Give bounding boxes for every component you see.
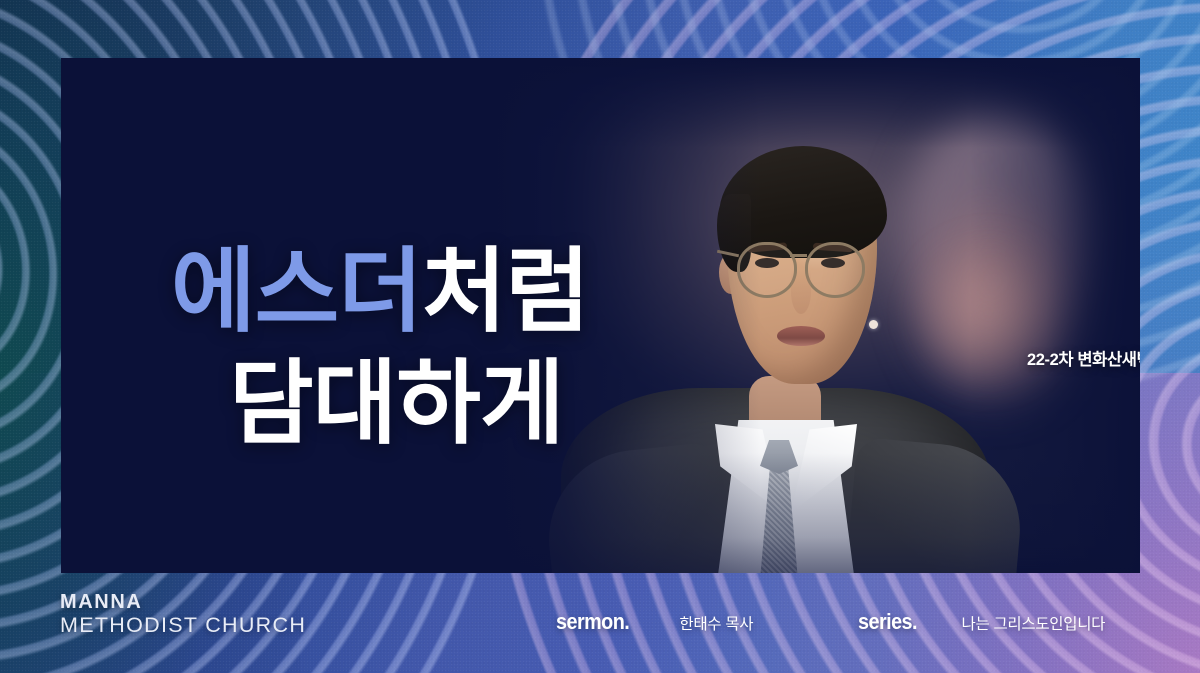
lapel-microphone [869, 320, 878, 329]
series-title: 나는 그리스도인입니다 [962, 612, 1106, 634]
sermon-label: sermon. [556, 609, 629, 635]
mouth [777, 326, 825, 346]
sermon-speaker-name: 한태수 목사 [679, 612, 753, 634]
title-line-1: 에스더처럼 [171, 236, 589, 348]
nose [791, 270, 811, 314]
content-panel: 에스더처럼 담대하게 22-2차 변화산새벽기도회 [61, 58, 1140, 573]
logo-line-2: METHODIST CHURCH [60, 613, 306, 637]
eyeglasses-bridge [790, 254, 807, 257]
church-logo: MANNA METHODIST CHURCH [60, 591, 306, 637]
title-accent-text: 에스더 [171, 241, 422, 343]
eyeglasses-lens-left [737, 242, 797, 298]
sermon-title-card: 에스더처럼 담대하게 22-2차 변화산새벽기도회 MANNA METHODIS… [0, 0, 1200, 673]
eyeglasses-lens-right [805, 242, 865, 298]
title-plain-text: 처럼 [422, 241, 589, 343]
title-line-2: 담대하게 [171, 348, 589, 460]
series-meta: series. 나는 그리스도인입니다 [858, 609, 1105, 635]
logo-line-1: MANNA [60, 591, 306, 613]
sermon-meta: sermon. 한태수 목사 [556, 609, 753, 635]
event-label: 22-2차 변화산새벽기도회 [1027, 346, 1140, 370]
event-label-text: 22-2차 변화산새벽기도회 [1027, 346, 1140, 370]
page-title: 에스더처럼 담대하게 [171, 236, 589, 460]
footer: MANNA METHODIST CHURCH sermon. 한태수 목사 se… [0, 573, 1200, 673]
series-label: series. [858, 609, 917, 635]
